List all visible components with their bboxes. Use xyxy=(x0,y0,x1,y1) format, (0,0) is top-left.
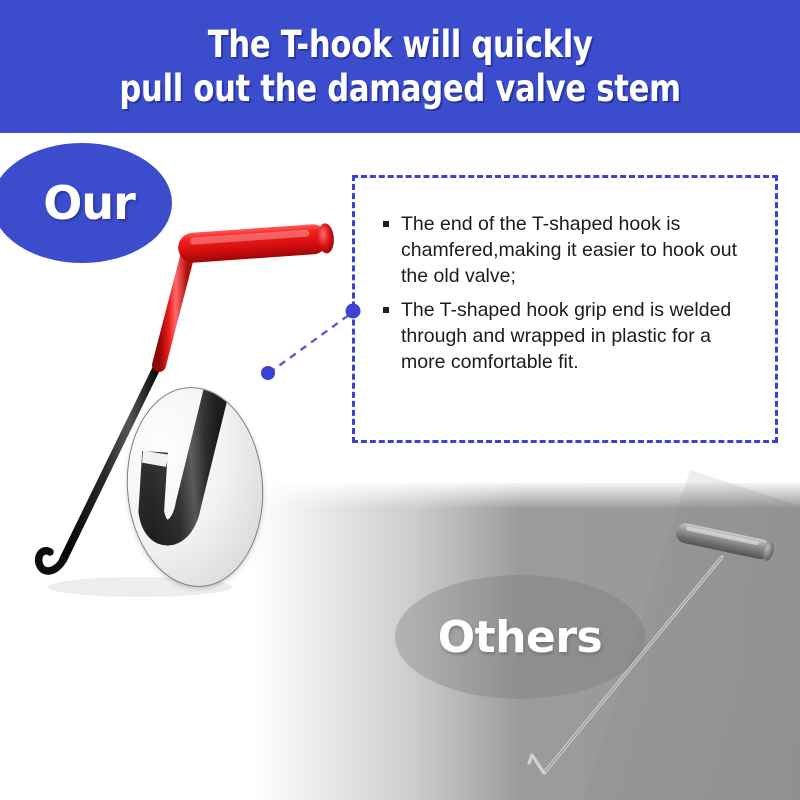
tool-red-handle xyxy=(177,223,335,264)
chamfered-hook-end-closeup xyxy=(120,383,270,592)
others-handle xyxy=(674,521,775,561)
header-banner: The T-hook will quickly pull out the dam… xyxy=(0,0,800,133)
header-title-line2: pull out the damaged valve stem xyxy=(119,67,680,111)
list-item: The T-shaped hook grip end is welded thr… xyxy=(381,298,757,376)
others-shaft-shade xyxy=(544,557,722,773)
gray-t-hook-tool xyxy=(500,505,790,800)
infographic-canvas: The T-hook will quickly pull out the dam… xyxy=(0,0,800,800)
header-title-line1: The T-hook will quickly xyxy=(208,23,593,67)
feature-bullet-list: The end of the T-shaped hook is chamfere… xyxy=(381,212,757,376)
tool-hook-tip xyxy=(39,551,63,571)
feature-callout-box: The end of the T-shaped hook is chamfere… xyxy=(352,175,778,443)
tool-red-shaft xyxy=(159,257,187,365)
list-item: The end of the T-shaped hook is chamfere… xyxy=(381,212,757,290)
others-hook-tip xyxy=(529,755,544,773)
closeup-content xyxy=(121,384,268,590)
glass-reflection xyxy=(121,384,268,590)
